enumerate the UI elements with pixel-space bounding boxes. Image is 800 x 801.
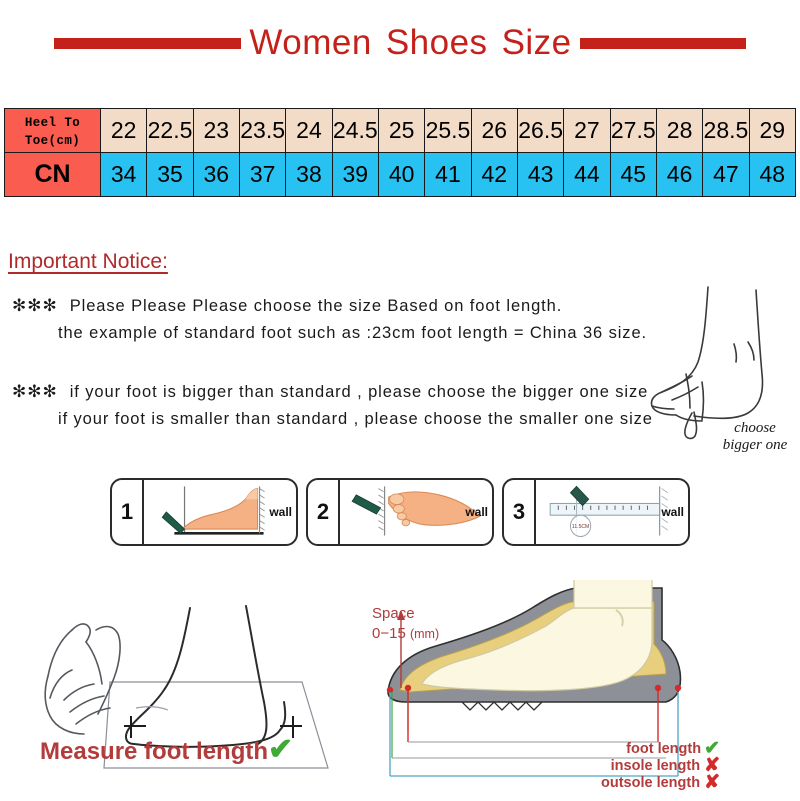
cell-cn-13: 47 bbox=[703, 153, 749, 197]
space-value-row: 0−15 (mm) bbox=[372, 624, 439, 644]
step-panel-1: 1 wall bbox=[110, 478, 298, 546]
cell-cm-3: 23.5 bbox=[239, 109, 285, 153]
page-title: WomenShoesSize bbox=[241, 23, 579, 63]
step-panel-2: 2 wall bbox=[306, 478, 494, 546]
step-number-1: 1 bbox=[112, 480, 144, 544]
legend-row-outsole-length: outsole length ✘ bbox=[470, 774, 720, 791]
foot-side-icon bbox=[648, 282, 798, 442]
row-header-heel-to-toe-label: Heel To Toe(cm) bbox=[25, 116, 80, 148]
foot-illustration-caption: choose bigger one bbox=[690, 420, 800, 454]
cell-cn-6: 40 bbox=[378, 153, 424, 197]
table-row-cn: CN 34 35 36 37 38 39 40 41 42 43 44 45 4… bbox=[5, 153, 796, 197]
notice-line-1: ✻✻✻Please Please Please choose the size … bbox=[12, 292, 647, 320]
title-rule-left bbox=[54, 38, 241, 49]
important-notice-heading: Important Notice: bbox=[8, 250, 168, 274]
table-row-heel-to-toe: Heel To Toe(cm) 22 22.5 23 23.5 24 24.5 … bbox=[5, 109, 796, 153]
cell-cn-0: 34 bbox=[101, 153, 147, 197]
step-2-wall-label: wall bbox=[465, 505, 488, 519]
cell-cn-9: 43 bbox=[517, 153, 563, 197]
step-2-illustration: wall bbox=[340, 480, 492, 544]
cell-cn-10: 44 bbox=[564, 153, 610, 197]
notice-line-4: if your foot is smaller than standard , … bbox=[12, 406, 653, 433]
cell-cm-14: 29 bbox=[749, 109, 795, 153]
cell-cn-14: 48 bbox=[749, 153, 795, 197]
legend-label-foot-length: foot length bbox=[626, 741, 701, 757]
cell-cm-9: 26.5 bbox=[517, 109, 563, 153]
notice-block-1: ✻✻✻Please Please Please choose the size … bbox=[12, 292, 647, 347]
step-3-wall-label: wall bbox=[661, 505, 684, 519]
step-1-illustration: wall bbox=[144, 480, 296, 544]
cell-cm-0: 22 bbox=[101, 109, 147, 153]
caption-line-2: bigger one bbox=[690, 437, 800, 454]
legend-row-insole-length: insole length ✘ bbox=[470, 757, 720, 774]
cell-cn-12: 46 bbox=[656, 153, 702, 197]
cell-cm-10: 27 bbox=[564, 109, 610, 153]
caption-line-1: choose bbox=[690, 420, 800, 437]
title-word-size: Size bbox=[502, 23, 572, 62]
cell-cm-6: 25 bbox=[378, 109, 424, 153]
row-header-heel-to-toe: Heel To Toe(cm) bbox=[5, 109, 101, 153]
notice-text-1: Please Please Please choose the size Bas… bbox=[70, 297, 563, 315]
title-word-women: Women bbox=[249, 23, 371, 62]
row-header-cn-label: CN bbox=[34, 160, 70, 188]
notice-text-3: if your foot is bigger than standard , p… bbox=[70, 383, 648, 401]
step-number-2: 2 bbox=[308, 480, 340, 544]
cell-cm-2: 23 bbox=[193, 109, 239, 153]
cell-cm-5: 24.5 bbox=[332, 109, 378, 153]
notice-text-2: the example of standard foot such as :23… bbox=[58, 324, 647, 342]
legend-label-outsole-length: outsole length bbox=[601, 775, 700, 791]
cell-cn-11: 45 bbox=[610, 153, 656, 197]
step-1-wall-label: wall bbox=[269, 505, 292, 519]
space-unit: (mm) bbox=[410, 627, 439, 641]
outsole-length-cross-icon: ✘ bbox=[704, 771, 720, 794]
length-legend: foot length ✔ insole length ✘ outsole le… bbox=[470, 740, 720, 791]
measurement-steps: 1 wall 2 bbox=[110, 478, 690, 546]
cell-cm-7: 25.5 bbox=[425, 109, 471, 153]
measure-foot-length-caption: Measure foot length bbox=[40, 738, 268, 766]
cell-cm-13: 28.5 bbox=[703, 109, 749, 153]
title-word-shoes: Shoes bbox=[386, 23, 488, 62]
cell-cn-7: 41 bbox=[425, 153, 471, 197]
space-label: Space bbox=[372, 604, 439, 624]
legend-label-insole-length: insole length bbox=[611, 758, 700, 774]
space-value: 0−15 bbox=[372, 625, 406, 642]
legend-row-foot-length: foot length ✔ bbox=[470, 740, 720, 757]
title-rule-right bbox=[580, 38, 746, 49]
step-panel-3: 3 bbox=[502, 478, 690, 546]
row-header-cn: CN bbox=[5, 153, 101, 197]
notice-block-2: ✻✻✻if your foot is bigger than standard … bbox=[12, 378, 653, 433]
cell-cm-8: 26 bbox=[471, 109, 517, 153]
measure-check-icon: ✔ bbox=[268, 732, 293, 767]
notice-line-2: the example of standard foot such as :23… bbox=[12, 320, 647, 347]
step-3-illustration: 11.5CM wall bbox=[536, 480, 688, 544]
asterisk-marker-icon-2: ✻✻✻ bbox=[12, 382, 58, 401]
step-number-3: 3 bbox=[504, 480, 536, 544]
cell-cm-1: 22.5 bbox=[147, 109, 193, 153]
foot-side-illustration bbox=[648, 282, 798, 442]
cell-cn-3: 37 bbox=[239, 153, 285, 197]
notice-line-3: ✻✻✻if your foot is bigger than standard … bbox=[12, 378, 653, 406]
size-conversion-table: Heel To Toe(cm) 22 22.5 23 23.5 24 24.5 … bbox=[4, 108, 796, 197]
cell-cn-8: 42 bbox=[471, 153, 517, 197]
cell-cm-11: 27.5 bbox=[610, 109, 656, 153]
cell-cn-4: 38 bbox=[286, 153, 332, 197]
cell-cn-2: 36 bbox=[193, 153, 239, 197]
cell-cn-5: 39 bbox=[332, 153, 378, 197]
space-annotation: Space 0−15 (mm) bbox=[372, 604, 439, 644]
notice-text-4: if your foot is smaller than standard , … bbox=[58, 410, 653, 428]
asterisk-marker-icon: ✻✻✻ bbox=[12, 296, 58, 315]
ruler-badge-text: 11.5CM bbox=[572, 524, 589, 530]
cell-cm-4: 24 bbox=[286, 109, 332, 153]
page-title-row: WomenShoesSize bbox=[0, 18, 800, 68]
cell-cm-12: 28 bbox=[656, 109, 702, 153]
cell-cn-1: 35 bbox=[147, 153, 193, 197]
